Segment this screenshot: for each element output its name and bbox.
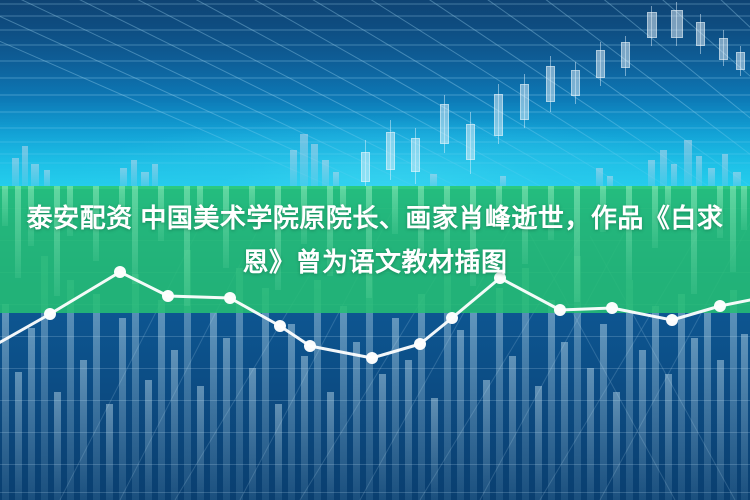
headline-text: 泰安配资 中国美术学院原院长、画家肖峰逝世，作品《白求恩》曾为语文教材插图 [0,196,750,284]
banner-image: 泰安配资 中国美术学院原院长、画家肖峰逝世，作品《白求恩》曾为语文教材插图 [0,0,750,500]
headline-label: 泰安配资 中国美术学院原院长、画家肖峰逝世，作品《白求恩》曾为语文教材插图 [27,203,724,277]
city-skyline [0,120,750,190]
